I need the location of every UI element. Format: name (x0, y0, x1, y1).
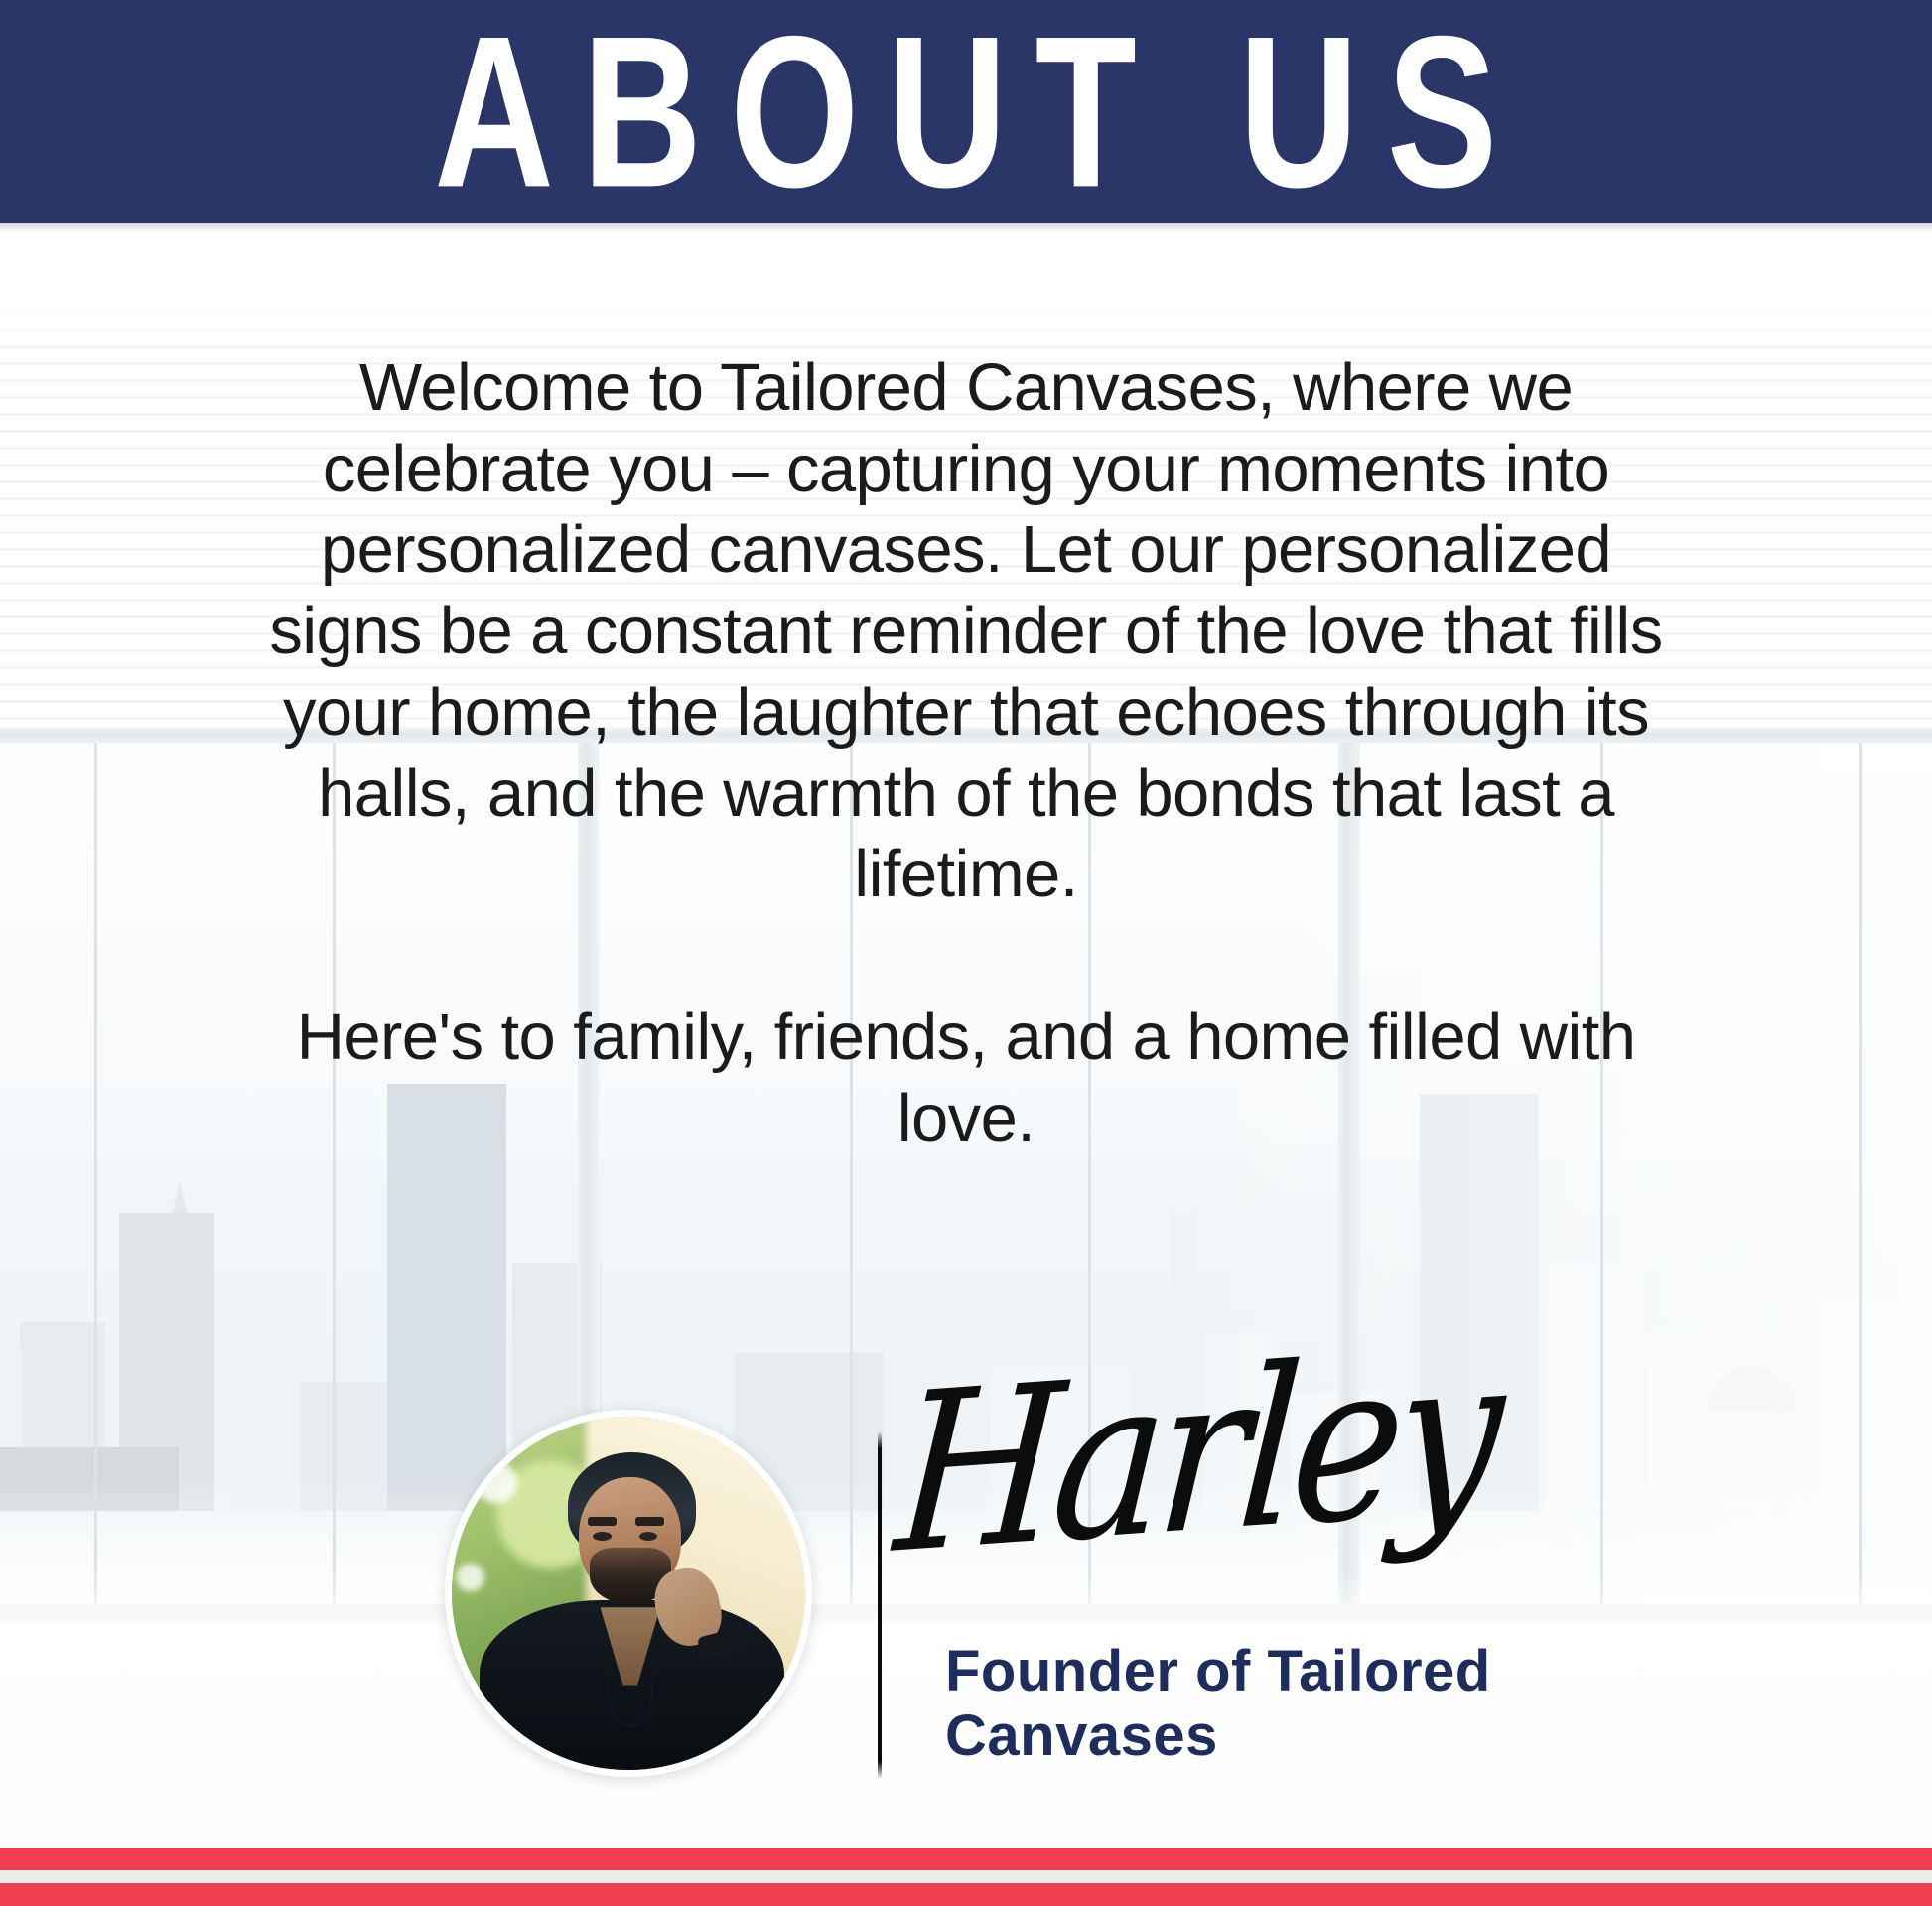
about-us-poster: ABOUT US Welcome to Tailored Canvases, w… (0, 0, 1932, 1906)
window-mullion (1859, 743, 1862, 1630)
portrait-necklace (608, 1657, 653, 1727)
window-mullion (94, 743, 97, 1630)
portrait-eyebrow-right (635, 1517, 663, 1526)
blinds-top-fade (0, 230, 1932, 359)
portrait-eyebrow-left (588, 1517, 616, 1526)
founder-credit-line-2: Canvases (945, 1704, 1581, 1769)
vertical-divider (878, 1431, 882, 1779)
founder-portrait-photo (452, 1417, 805, 1770)
avatar (445, 1410, 812, 1777)
portrait-eye-right (639, 1532, 658, 1541)
accent-stripe-bottom (0, 1883, 1932, 1906)
founder-credit-line-1: Founder of Tailored (945, 1640, 1581, 1704)
page-title: ABOUT US (406, 4, 1526, 219)
header-shadow (0, 223, 1932, 233)
header-band: ABOUT US (0, 0, 1932, 223)
about-paragraph-1: Welcome to Tailored Canvases, where we c… (261, 347, 1671, 915)
portrait-eye-left (593, 1532, 612, 1541)
about-paragraph-2: Here's to family, friends, and a home fi… (261, 997, 1671, 1158)
about-us-body: Welcome to Tailored Canvases, where we c… (261, 347, 1671, 1158)
accent-stripe-gap (0, 1870, 1932, 1883)
accent-stripe-top (0, 1848, 1932, 1870)
founder-credit: Founder of Tailored Canvases (945, 1640, 1581, 1769)
